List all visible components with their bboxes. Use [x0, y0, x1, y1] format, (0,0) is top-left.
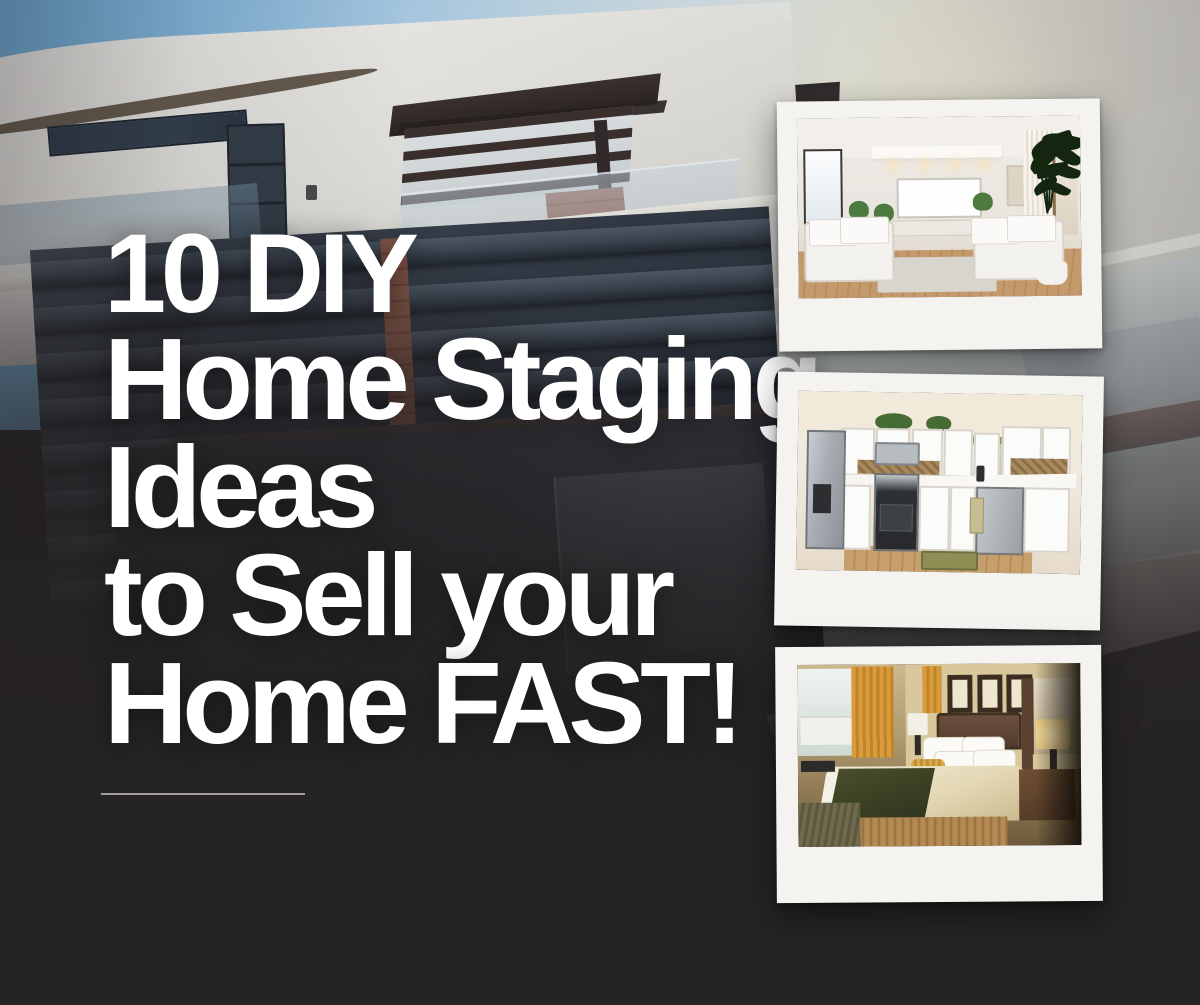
headline-line-3: Ideas [104, 434, 804, 542]
bd-balcony-rail [800, 716, 851, 745]
kt-base-cabinet [1023, 487, 1069, 552]
headline-line-4: to Sell your [104, 542, 804, 650]
bd-framed-art [977, 674, 1003, 712]
headline-line-5: Home FAST! [104, 650, 804, 758]
photo-frame-kitchen [774, 371, 1104, 630]
kt-microwave [874, 442, 920, 466]
lr-planter-pot [1036, 261, 1067, 285]
bd-framed-art [947, 675, 973, 713]
kt-base-cabinet [918, 486, 950, 551]
lr-television [897, 178, 982, 218]
headline-line-1: 10 DIY [104, 222, 804, 326]
lr-spotlight [981, 162, 986, 167]
lr-ceiling-light-box [871, 145, 1001, 159]
photo-frame-bedroom [775, 645, 1103, 903]
kt-dish-towel [970, 497, 985, 533]
bedroom-photo [797, 663, 1081, 847]
kt-refrigerator [805, 430, 847, 549]
lr-plant [973, 192, 993, 210]
bd-curtain [922, 666, 942, 713]
bd-luggage-bench [801, 761, 835, 772]
lr-spotlight [953, 162, 958, 167]
lr-cushion [840, 217, 888, 245]
poster-canvas: 10 DIY Home Staging Ideas to Sell your H… [0, 0, 1200, 1005]
kitchen-photo [796, 391, 1083, 574]
lr-spotlight [922, 162, 927, 167]
bd-carpet [798, 803, 861, 847]
page-title: 10 DIY Home Staging Ideas to Sell your H… [104, 222, 804, 758]
kt-faucet [976, 465, 985, 481]
title-divider-rule [101, 793, 305, 795]
headline-line-2: Home Staging [104, 326, 804, 434]
lr-left-window [803, 149, 843, 225]
kt-floor-mat [921, 550, 978, 571]
lr-spotlight [891, 162, 896, 167]
bd-bed-post [1021, 678, 1033, 773]
bd-curtain [851, 666, 894, 757]
bd-lamp-left-stand [915, 735, 921, 755]
living-room-photo [797, 116, 1082, 299]
photo-frame-living-room [777, 98, 1103, 351]
bd-right-shadow [1035, 663, 1082, 845]
kt-range-oven [873, 473, 920, 552]
lr-palm-plant [1026, 134, 1075, 235]
bd-lamp-left [908, 713, 928, 735]
